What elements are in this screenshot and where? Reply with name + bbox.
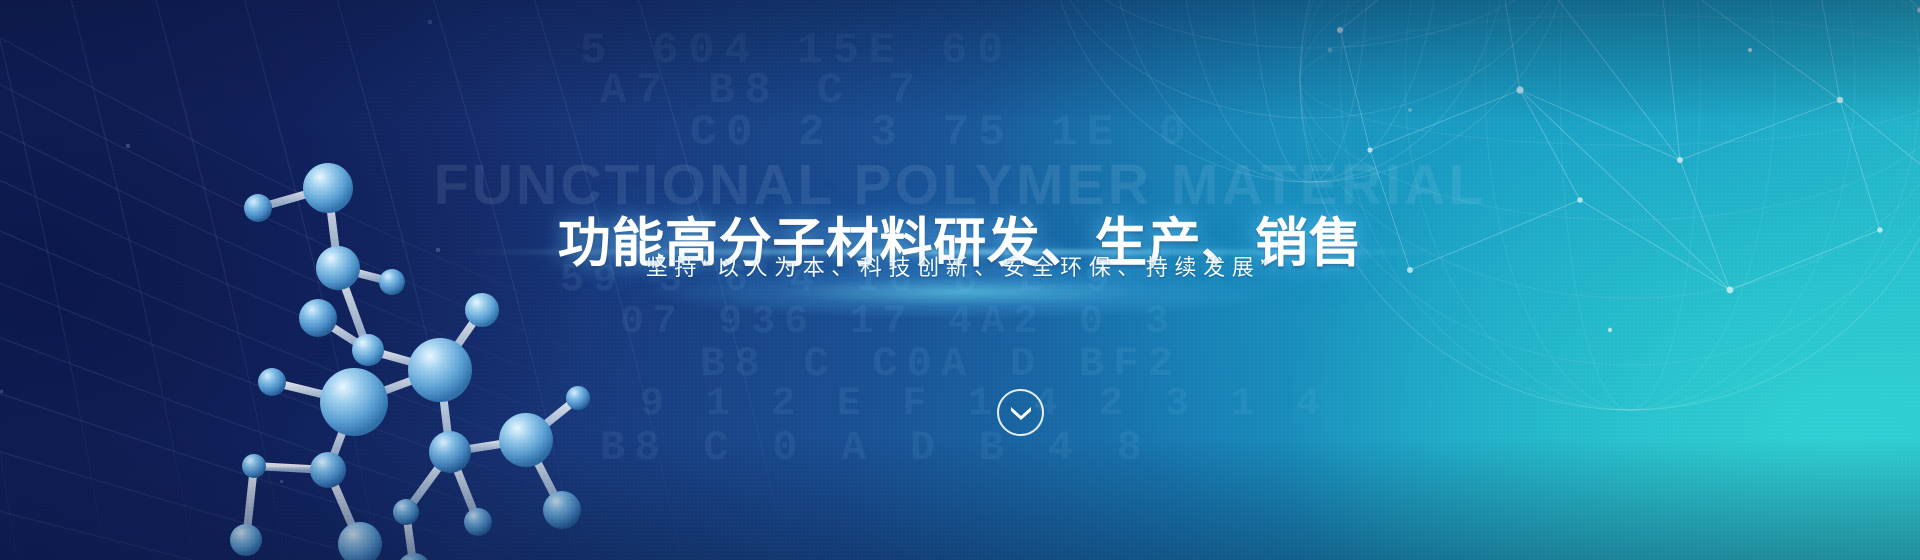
scroll-down-button[interactable] (997, 389, 1044, 436)
page-subtitle: 坚持“以人为本、科技创新、安全环保、持续发展” (646, 250, 1274, 282)
chevron-down-icon (1010, 406, 1032, 420)
banner-content: FUNCTIONAL POLYMER MATERIAL 功能高分子材料研发、生产… (0, 0, 1920, 560)
hero-banner: 5 604 15E 60 A7 B8 C 7 C0 2 3 75 1E 0 59… (0, 0, 1920, 560)
